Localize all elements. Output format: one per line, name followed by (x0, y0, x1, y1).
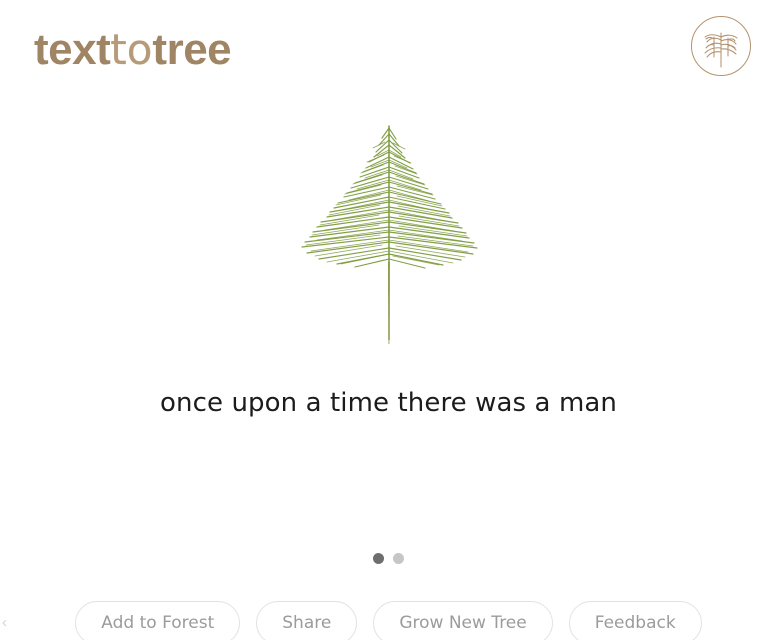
action-button-bar: Add to Forest Share Grow New Tree Feedba… (0, 601, 777, 640)
brand-logo-text[interactable]: texttotree (34, 24, 231, 76)
generated-pine-tree-illustration (289, 112, 489, 352)
tree-canvas (0, 112, 777, 362)
brand-text-part3: tree (152, 25, 231, 74)
feedback-button[interactable]: Feedback (569, 601, 702, 640)
chevron-left-icon[interactable]: ‹ (2, 614, 16, 632)
carousel-pager (0, 553, 777, 564)
share-button[interactable]: Share (256, 601, 357, 640)
pager-dot-2[interactable] (393, 553, 404, 564)
add-to-forest-button[interactable]: Add to Forest (75, 601, 240, 640)
grow-new-tree-button[interactable]: Grow New Tree (373, 601, 552, 640)
brand-text-part2: to (110, 25, 152, 74)
tree-trunk (388, 262, 390, 344)
page-header: texttotree (0, 0, 777, 100)
tree-caption-text: once upon a time there was a man (0, 386, 777, 420)
pager-dot-1[interactable] (373, 553, 384, 564)
tree-in-circle-icon[interactable] (691, 16, 751, 76)
brand-text-part1: text (34, 25, 110, 74)
